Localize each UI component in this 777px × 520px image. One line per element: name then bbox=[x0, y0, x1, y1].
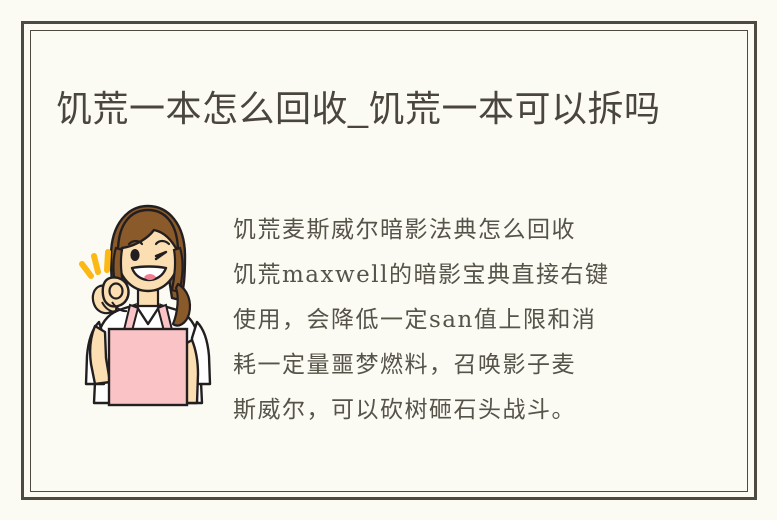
article-text: 饥荒麦斯威尔暗影法典怎么回收 饥荒maxwell的暗影宝典直接右键 使用，会降低… bbox=[233, 208, 673, 433]
page-content: 饥荒一本怎么回收_饥荒一本可以拆吗 bbox=[30, 30, 748, 492]
article-text-line: 使用，会降低一定san值上限和消 bbox=[233, 298, 673, 343]
article-text-line: 饥荒麦斯威尔暗影法典怎么回收 bbox=[233, 208, 673, 253]
article-body: 饥荒麦斯威尔暗影法典怎么回收 饥荒maxwell的暗影宝典直接右键 使用，会降低… bbox=[30, 190, 748, 440]
article-text-line: 饥荒maxwell的暗影宝典直接右键 bbox=[233, 253, 673, 298]
document-page: 饥荒一本怎么回收_饥荒一本可以拆吗 bbox=[0, 0, 777, 520]
article-text-line: 斯威尔，可以砍树砸石头战斗。 bbox=[233, 388, 673, 433]
woman-ok-gesture-illustration bbox=[72, 198, 224, 410]
page-title: 饥荒一本怎么回收_饥荒一本可以拆吗 bbox=[56, 83, 696, 135]
article-text-line: 耗一定量噩梦燃料，召唤影子麦 bbox=[233, 343, 673, 388]
